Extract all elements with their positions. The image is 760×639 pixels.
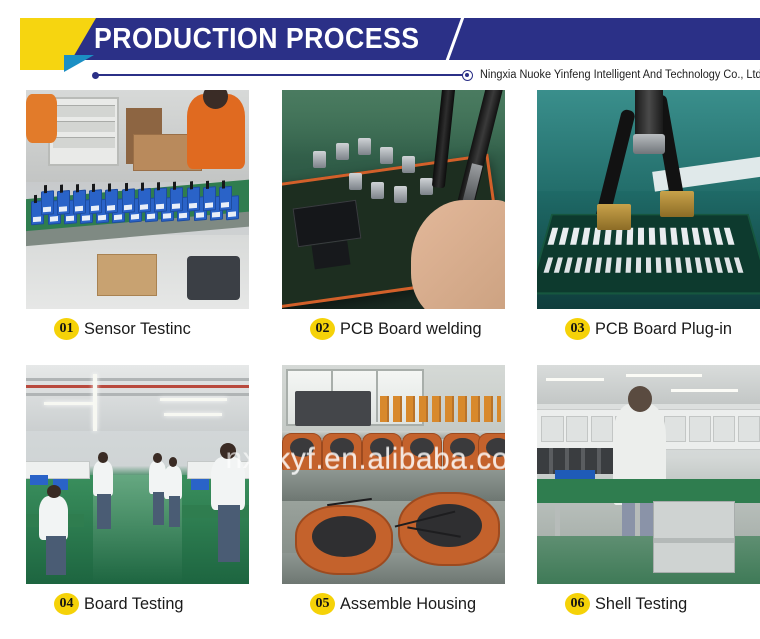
- header-divider-line: [98, 74, 464, 76]
- step-label: PCB Board welding: [340, 319, 482, 339]
- process-step-card-02[interactable]: 02 PCB Board welding: [282, 90, 505, 349]
- scene-shell-testing: [537, 365, 760, 584]
- scene-pcb-soldering: [282, 90, 505, 309]
- process-caption-05: 05 Assemble Housing: [282, 584, 505, 624]
- step-label: Assemble Housing: [340, 594, 476, 614]
- scene-pcb-plugin: [537, 90, 760, 309]
- process-photo-sensor-testing[interactable]: [26, 90, 249, 309]
- step-number-badge: 03: [565, 318, 590, 340]
- process-step-card-01[interactable]: 01 Sensor Testinc: [26, 90, 249, 349]
- process-step-card-06[interactable]: 06 Shell Testing: [537, 365, 760, 624]
- process-photo-shell-testing[interactable]: [537, 365, 760, 584]
- process-photo-pcb-welding[interactable]: [282, 90, 505, 309]
- step-label: Shell Testing: [595, 594, 687, 614]
- header-diagonal-slash-decoration: [439, 18, 468, 60]
- header-rule-row: Ningxia Nuoke Yinfeng Intelligent And Te…: [0, 64, 760, 86]
- process-caption-02: 02 PCB Board welding: [282, 309, 505, 349]
- step-number-badge: 02: [310, 318, 335, 340]
- step-number-badge: 04: [54, 593, 79, 615]
- scene-housing-assembly: [282, 365, 505, 584]
- step-label: Sensor Testinc: [84, 319, 191, 339]
- step-number-badge: 05: [310, 593, 335, 615]
- step-label: PCB Board Plug-in: [595, 319, 732, 339]
- process-photo-assemble-housing[interactable]: nxnkyf.en.alibaba.com: [282, 365, 505, 584]
- process-caption-04: 04 Board Testing: [26, 584, 249, 624]
- process-caption-01: 01 Sensor Testinc: [26, 309, 249, 349]
- scene-factory-floor: [26, 365, 249, 584]
- step-number-badge: 06: [565, 593, 590, 615]
- target-dot-icon: [462, 70, 473, 81]
- process-step-card-03[interactable]: 03 PCB Board Plug-in: [537, 90, 760, 349]
- step-number-badge: 01: [54, 318, 79, 340]
- process-caption-06: 06 Shell Testing: [537, 584, 760, 624]
- company-name: Ningxia Nuoke Yinfeng Intelligent And Te…: [480, 68, 760, 82]
- page-header: PRODUCTION PROCESS Ningxia Nuoke Yinfeng…: [0, 0, 760, 88]
- page-title: PRODUCTION PROCESS: [94, 18, 420, 60]
- process-step-card-05[interactable]: nxnkyf.en.alibaba.com 05 Assemble Housin…: [282, 365, 505, 624]
- process-photo-pcb-plugin[interactable]: [537, 90, 760, 309]
- process-step-card-04[interactable]: 04 Board Testing: [26, 365, 249, 624]
- production-process-grid: 01 Sensor Testinc: [0, 88, 760, 639]
- step-label: Board Testing: [84, 594, 184, 614]
- process-caption-03: 03 PCB Board Plug-in: [537, 309, 760, 349]
- process-photo-board-testing[interactable]: [26, 365, 249, 584]
- scene-sensor-testing: [26, 90, 249, 309]
